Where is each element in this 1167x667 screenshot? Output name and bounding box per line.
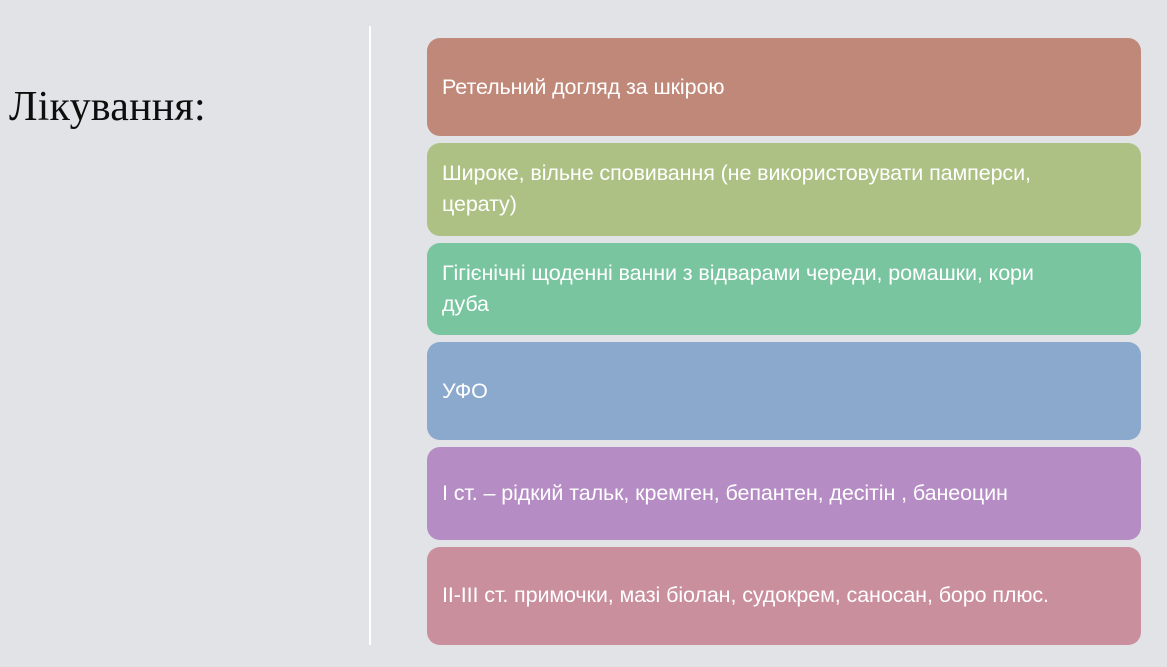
treatment-block-list: Ретельний догляд за шкірою Широке, вільн…	[427, 38, 1141, 645]
treatment-block[interactable]: II-III ст. примочки, мазі біолан, судокр…	[427, 547, 1141, 645]
vertical-divider	[369, 26, 371, 645]
treatment-block[interactable]: Ретельний догляд за шкірою	[427, 38, 1141, 136]
treatment-block-label: I ст. – рідкий тальк, кремген, бепантен,…	[442, 478, 1008, 509]
treatment-block[interactable]: I ст. – рідкий тальк, кремген, бепантен,…	[427, 447, 1141, 539]
treatment-block-label: Гігієнічні щоденні ванни з відварами чер…	[442, 258, 1082, 320]
treatment-block[interactable]: УФО	[427, 342, 1141, 440]
treatment-block-label: Ретельний догляд за шкірою	[442, 72, 724, 103]
title-pane: Лікування:	[0, 0, 369, 667]
treatment-block[interactable]: Гігієнічні щоденні ванни з відварами чер…	[427, 243, 1141, 335]
slide-canvas: Лікування: Ретельний догляд за шкірою Ши…	[0, 0, 1167, 667]
treatment-block-label: Широке, вільне сповивання (не використов…	[442, 158, 1082, 220]
treatment-block-label: II-III ст. примочки, мазі біолан, судокр…	[442, 580, 1049, 611]
page-title: Лікування:	[9, 83, 206, 131]
treatment-block-label: УФО	[442, 376, 488, 407]
treatment-block[interactable]: Широке, вільне сповивання (не використов…	[427, 143, 1141, 235]
